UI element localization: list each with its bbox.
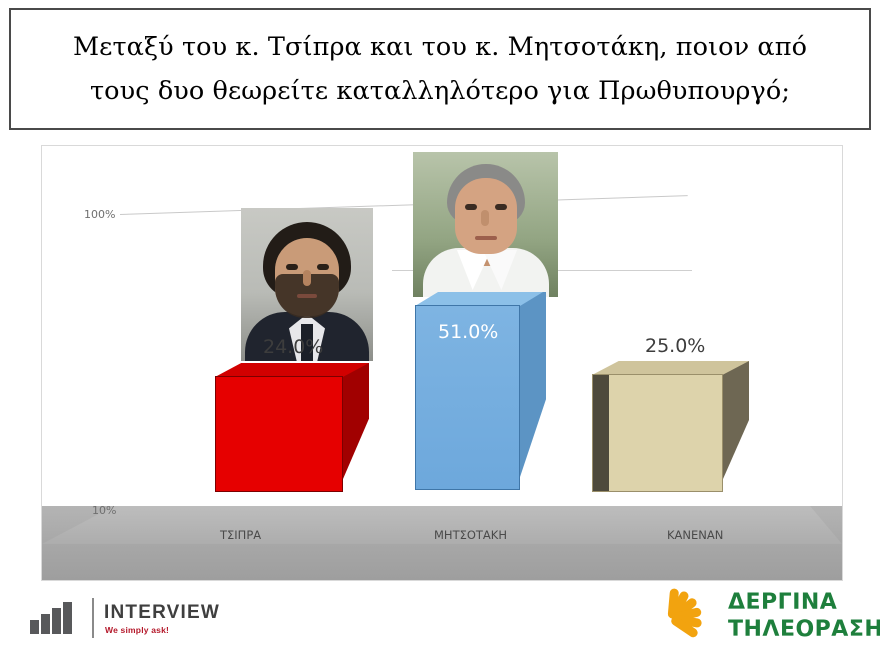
category-label-mitsotaki: ΜΗΤΣΟΤΑΚΗ xyxy=(434,528,507,542)
y-tick-bottom: 10% xyxy=(92,504,116,517)
interview-logo-word: INTERVIEW xyxy=(104,602,220,624)
page-title: Μεταξύ του κ. Τσίπρα και του κ. Μητσοτάκ… xyxy=(47,25,833,113)
question-title-box: Μεταξύ του κ. Τσίπρα και του κ. Μητσοτάκ… xyxy=(9,8,871,130)
title-line-2: τους δυο θεωρείτε καταλληλότερο για Πρωθ… xyxy=(90,76,790,106)
bars-icon xyxy=(30,602,82,634)
data-label-kanenan: 25.0% xyxy=(645,335,705,357)
photo-mitsotakis xyxy=(413,152,558,297)
category-label-kanenan: ΚΑΝΕΝΑΝ xyxy=(667,528,723,542)
dergina-logo-line1: ΔΕΡΓΙΝΑ xyxy=(728,590,837,615)
interview-logo-tagline: We simply ask! xyxy=(105,625,169,635)
data-label-mitsotaki: 51.0% xyxy=(438,321,498,343)
title-line-1: Μεταξύ του κ. Τσίπρα και του κ. Μητσοτάκ… xyxy=(73,32,807,62)
chart-panel: 100% 10% 24.0% 51.0% 25.0% ΤΣΙΠΡΑ ΜΗΤΣΟΤ… xyxy=(41,145,843,581)
dergina-logo: ΔΕΡΓΙΝΑ ΤΗΛΕΟΡΑΣΗ xyxy=(670,586,860,648)
category-label-tsipra: ΤΣΙΠΡΑ xyxy=(220,528,261,542)
y-tick-top: 100% xyxy=(84,208,115,221)
gridline-top xyxy=(120,195,688,215)
logo-divider xyxy=(92,598,94,638)
interview-logo: INTERVIEW We simply ask! xyxy=(30,596,230,640)
bar-tsipra xyxy=(215,376,343,492)
bar-kanenan xyxy=(592,374,723,492)
data-label-tsipra: 24.0% xyxy=(263,336,323,358)
dergina-logo-line2: ΤΗΛΕΟΡΑΣΗ xyxy=(728,617,880,642)
sun-icon xyxy=(670,590,724,642)
